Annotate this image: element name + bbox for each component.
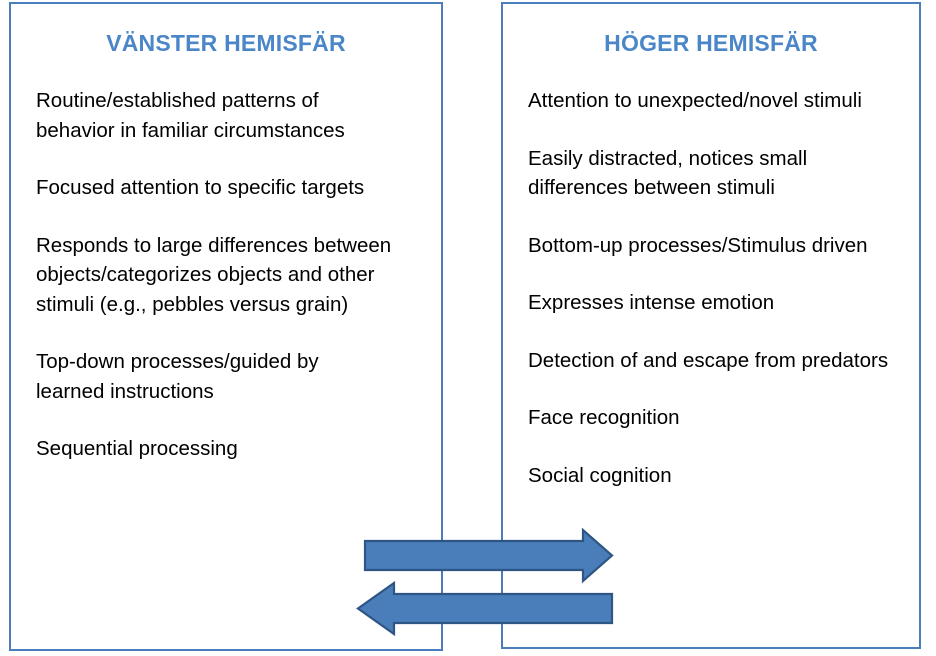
left-hemisphere-heading: VÄNSTER HEMISFÄR	[11, 30, 441, 57]
left-hemisphere-list: Routine/established patterns of behavior…	[36, 86, 432, 464]
diagram-canvas: VÄNSTER HEMISFÄR Routine/established pat…	[0, 0, 936, 656]
left-hemisphere-panel: VÄNSTER HEMISFÄR Routine/established pat…	[9, 2, 443, 651]
right-hemisphere-heading: HÖGER HEMISFÄR	[503, 30, 919, 57]
list-item: Sequential processing	[36, 434, 432, 464]
list-item: Expresses intense emotion	[528, 288, 916, 318]
right-hemisphere-list: Attention to unexpected/novel stimuli Ea…	[528, 86, 916, 490]
list-item: Social cognition	[528, 461, 916, 491]
right-hemisphere-panel: HÖGER HEMISFÄR Attention to unexpected/n…	[501, 2, 921, 649]
list-item: Attention to unexpected/novel stimuli	[528, 86, 916, 116]
list-item: Easily distracted, notices small differe…	[528, 144, 916, 203]
list-item: Top-down processes/guided by learned ins…	[36, 347, 432, 406]
list-item: Focused attention to specific targets	[36, 173, 432, 203]
list-item: Bottom-up processes/Stimulus driven	[528, 231, 916, 261]
list-item: Routine/established patterns of behavior…	[36, 86, 432, 145]
list-item: Face recognition	[528, 403, 916, 433]
list-item: Responds to large differences between ob…	[36, 231, 432, 320]
list-item: Detection of and escape from predators	[528, 346, 916, 376]
